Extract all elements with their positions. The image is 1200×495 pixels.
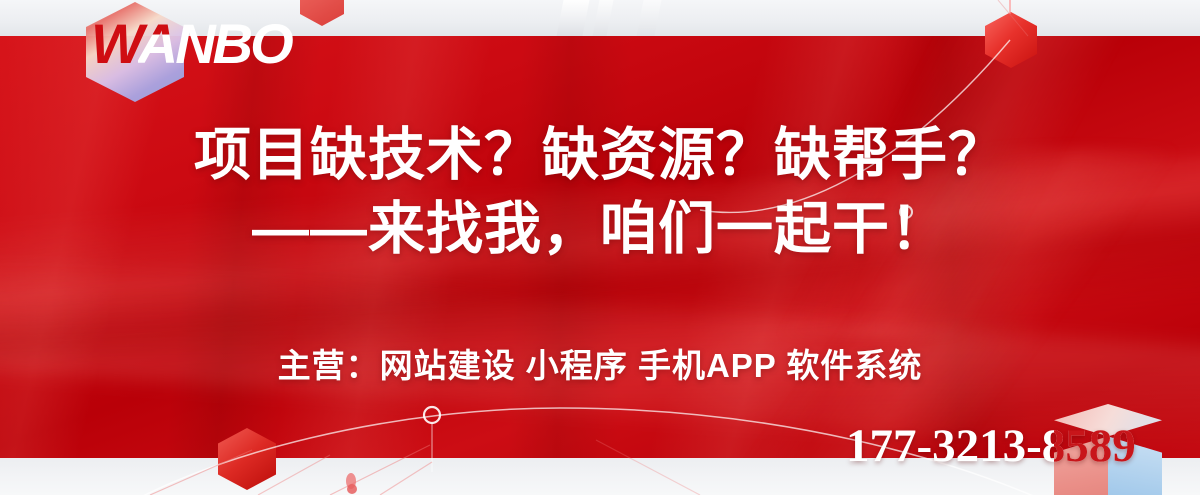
logo-letters-nbo: NBO xyxy=(175,12,290,75)
logo-letter-a: A xyxy=(138,12,175,75)
hexagon-icon-top-right xyxy=(985,12,1037,68)
hexagon-icon-bottom-left xyxy=(218,428,276,490)
brand-logo-text: WANBO xyxy=(91,16,291,72)
headline: 项目缺技术？缺资源？缺帮手？ ——来找我，咱们一起干！ xyxy=(0,118,1200,266)
promo-banner: WANBO 项目缺技术？缺资源？缺帮手？ ——来找我，咱们一起干！ 主营：网站建… xyxy=(0,0,1200,495)
services-subtitle: 主营：网站建设 小程序 手机APP 软件系统 xyxy=(0,339,1200,387)
headline-line-2: ——来找我，咱们一起干！ xyxy=(0,192,1200,266)
phone-number-block[interactable]: 177-3213-8589 177-3213-8589 xyxy=(846,418,1156,474)
logo-letter-w: W xyxy=(91,12,138,75)
headline-line-1: 项目缺技术？缺资源？缺帮手？ xyxy=(0,118,1200,192)
brand-logo[interactable]: WANBO xyxy=(86,2,316,98)
